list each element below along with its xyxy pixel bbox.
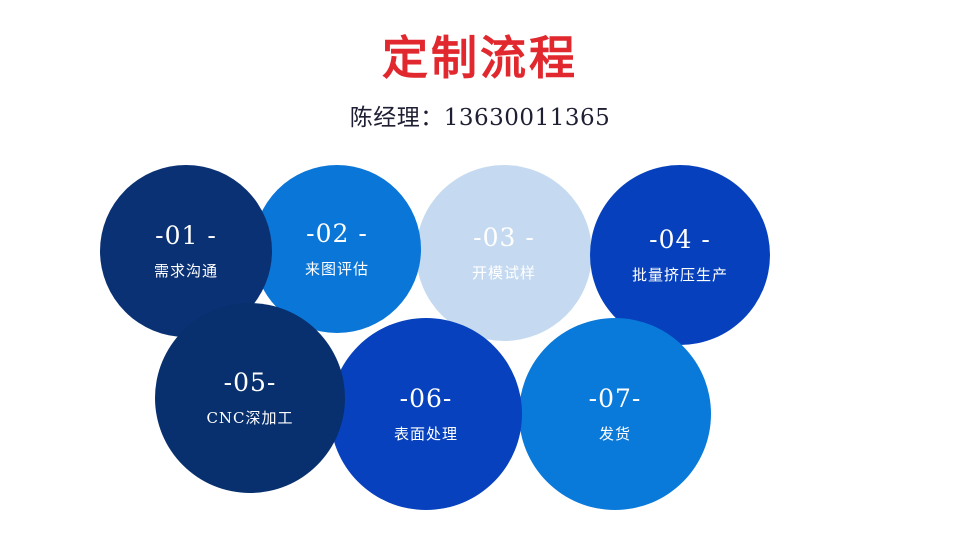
process-step-07[interactable]: -07- 发货: [519, 318, 711, 510]
process-step-05-label: CNC深加工: [206, 411, 293, 426]
process-step-04-number: -04 -: [649, 227, 711, 252]
process-step-01-label: 需求沟通: [154, 264, 218, 279]
process-step-06-label: 表面处理: [394, 427, 458, 442]
process-step-05[interactable]: -05- CNC深加工: [155, 303, 345, 493]
process-step-02-label: 来图评估: [305, 262, 369, 277]
process-step-03-number: -03 -: [473, 225, 535, 250]
process-step-05-number: -05-: [224, 370, 277, 395]
process-step-04-label: 批量挤压生产: [632, 268, 728, 283]
process-step-03-label: 开模试样: [472, 266, 536, 281]
process-flow-diagram: -01 - 需求沟通 -02 - 来图评估 -03 - 开模试样 -04 - 批…: [0, 0, 960, 560]
process-step-01-number: -01 -: [155, 223, 217, 248]
slide-canvas: 定制流程 陈经理：13630011365 -01 - 需求沟通 -02 - 来图…: [0, 0, 960, 560]
process-step-07-number: -07-: [589, 386, 642, 411]
process-step-07-label: 发货: [599, 427, 631, 442]
process-step-06-number: -06-: [400, 386, 453, 411]
process-step-03[interactable]: -03 - 开模试样: [416, 165, 592, 341]
process-step-06[interactable]: -06- 表面处理: [330, 318, 522, 510]
process-step-02-number: -02 -: [306, 221, 368, 246]
